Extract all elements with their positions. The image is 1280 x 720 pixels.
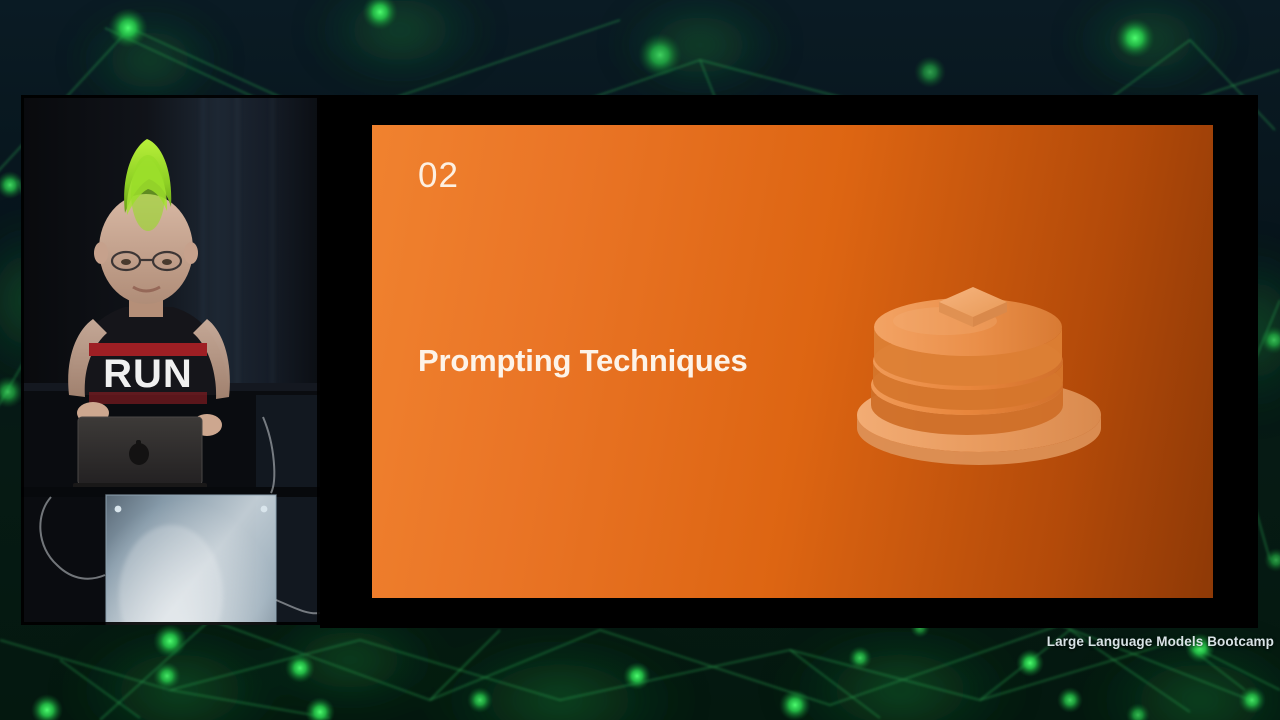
slide-number: 02 (418, 158, 459, 193)
speaker-video-feed[interactable]: RUN (21, 95, 320, 625)
speaker-scene: RUN (21, 95, 320, 625)
pancake-stack-illustration (849, 265, 1109, 470)
glass-podium (106, 495, 276, 625)
presentation-slide[interactable]: 02 Prompting Techniques (372, 125, 1213, 598)
laptop (73, 417, 207, 489)
slide-title: Prompting Techniques (418, 343, 748, 379)
bootcamp-watermark: Large Language Models Bootcamp (1047, 634, 1274, 649)
pancake-stack-graphic (849, 265, 1109, 470)
shirt-text: RUN (103, 352, 193, 396)
